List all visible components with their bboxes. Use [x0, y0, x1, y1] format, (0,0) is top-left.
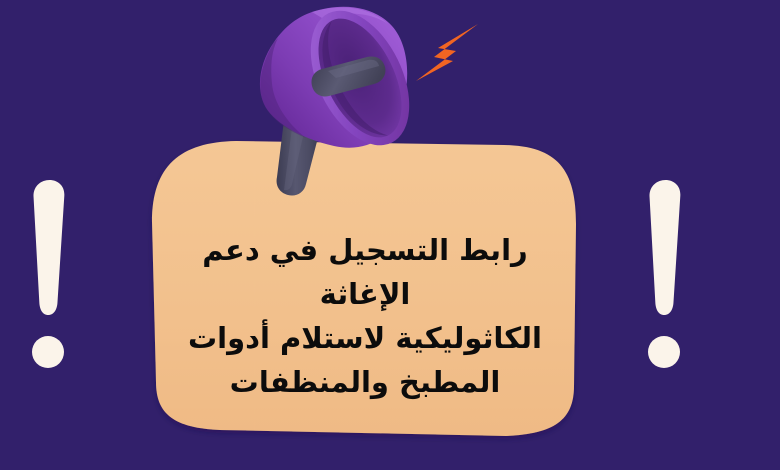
- exclamation-mark-left: [24, 178, 84, 378]
- exclamation-mark-icon: [32, 180, 64, 368]
- megaphone-illustration: [250, 0, 430, 200]
- lightning-bolt: [408, 18, 480, 88]
- announcement-banner: رابط التسجيل في دعم الإغاثة الكاثوليكية …: [0, 0, 780, 470]
- lightning-bolt-icon: [416, 24, 478, 81]
- exclamation-mark-right: [640, 178, 700, 378]
- exclamation-mark-icon: [648, 180, 680, 368]
